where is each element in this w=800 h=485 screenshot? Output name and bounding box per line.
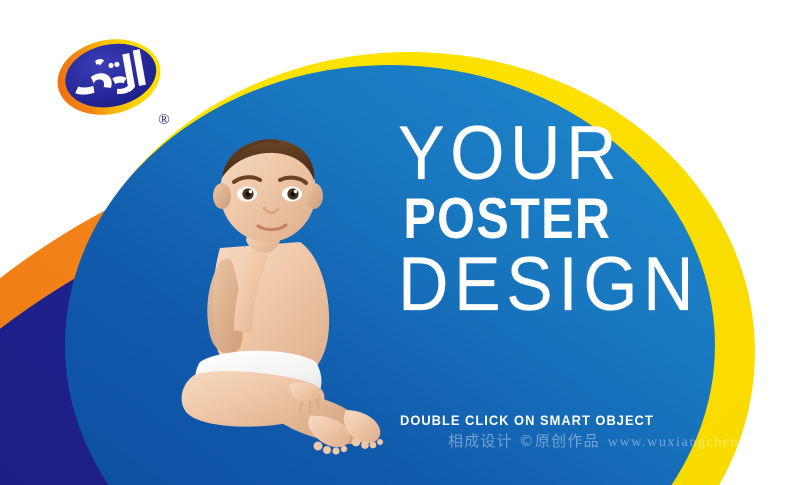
brand-logo[interactable]: ® — [55, 33, 180, 138]
watermark-url: www.wuxiangcheng.cn — [608, 435, 770, 450]
poster-canvas: ® — [0, 0, 800, 485]
headline-block: YOUR POSTER DESIGN — [398, 118, 628, 320]
registered-trademark-icon: ® — [155, 111, 173, 129]
watermark-chinese: 相成设计 ©原创作品 — [448, 432, 600, 450]
brand-oval-logo-icon — [55, 33, 163, 121]
baby-photo — [160, 130, 390, 460]
smart-object-caption: DOUBLE CLICK ON SMART OBJECT — [400, 412, 654, 428]
watermark: 相成设计 ©原创作品www.wuxiangcheng.cn — [448, 430, 769, 451]
headline-line-your: YOUR — [398, 118, 610, 189]
headline-line-design: DESIGN — [398, 249, 610, 320]
